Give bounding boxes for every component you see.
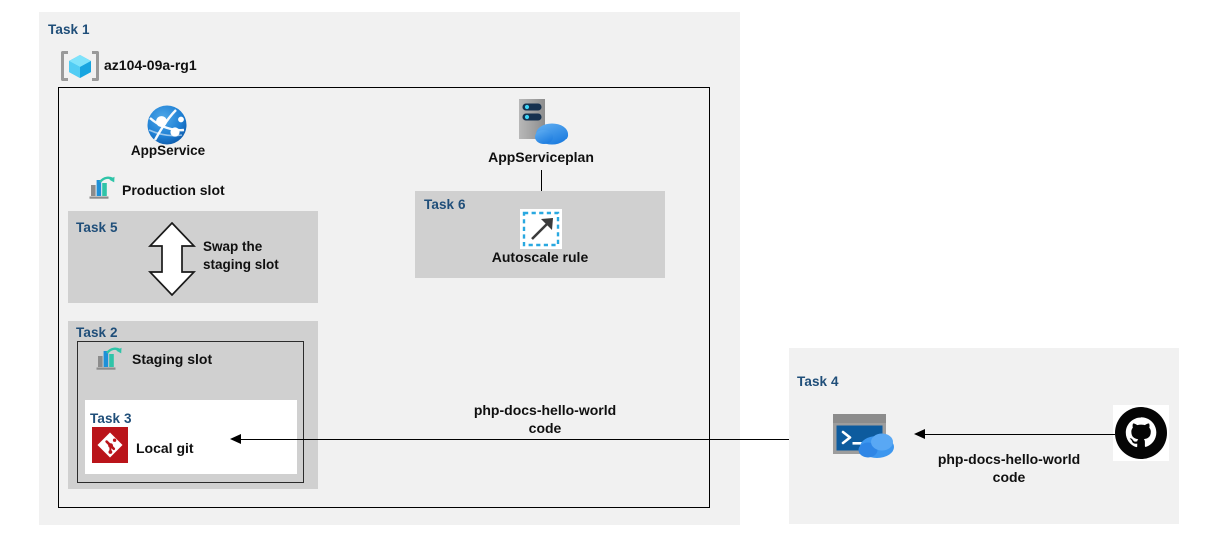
azure-resource-group-icon	[61, 49, 99, 83]
deployment-slot-icon-staging	[95, 347, 123, 373]
edge-label-cloudshell-to-localgit: php-docs-hello-world code	[455, 401, 635, 437]
deployment-slot-icon-production	[88, 176, 116, 202]
github-icon	[1113, 405, 1169, 461]
edge-label-line1: php-docs-hello-world	[474, 402, 616, 418]
diagram-canvas: Task 1 az104-09a-rg1	[0, 0, 1218, 545]
local-git-label: Local git	[136, 440, 194, 456]
edge-cloudshell-to-localgit-arrowhead	[230, 434, 241, 444]
app-service-icon	[146, 104, 188, 146]
task6-label: Task 6	[424, 197, 466, 212]
task5-text-line1: Swap the	[203, 239, 262, 254]
task4-label: Task 4	[797, 374, 839, 389]
task2-label: Task 2	[76, 325, 118, 340]
task3-label: Task 3	[90, 411, 132, 426]
edge-label-line1: php-docs-hello-world	[938, 451, 1080, 467]
swap-up-down-arrow-icon	[146, 222, 198, 296]
task5-label: Task 5	[76, 220, 118, 235]
appserviceplan-label: AppServiceplan	[462, 149, 620, 165]
autoscale-rule-label: Autoscale rule	[461, 249, 619, 265]
app-service-plan-icon	[511, 97, 571, 147]
edge-github-to-cloudshell	[925, 434, 1115, 435]
task5-text-line2: staging slot	[203, 257, 279, 272]
edge-cloudshell-to-localgit	[241, 439, 816, 440]
edge-github-to-cloudshell-arrowhead	[914, 429, 925, 439]
production-slot-label: Production slot	[122, 182, 225, 198]
appservice-label: AppService	[120, 143, 216, 159]
git-repository-icon	[92, 427, 128, 463]
edge-label-line2: code	[993, 469, 1026, 485]
edge-label-line2: code	[529, 420, 562, 436]
task1-label: Task 1	[48, 22, 90, 37]
cloud-shell-icon	[833, 414, 899, 460]
staging-slot-label: Staging slot	[132, 351, 212, 367]
task5-text: Swap the staging slot	[203, 238, 319, 274]
autoscale-rule-icon	[520, 209, 562, 249]
resource-group-name: az104-09a-rg1	[104, 57, 197, 73]
edge-label-github-to-cloudshell: php-docs-hello-world code	[918, 450, 1100, 486]
